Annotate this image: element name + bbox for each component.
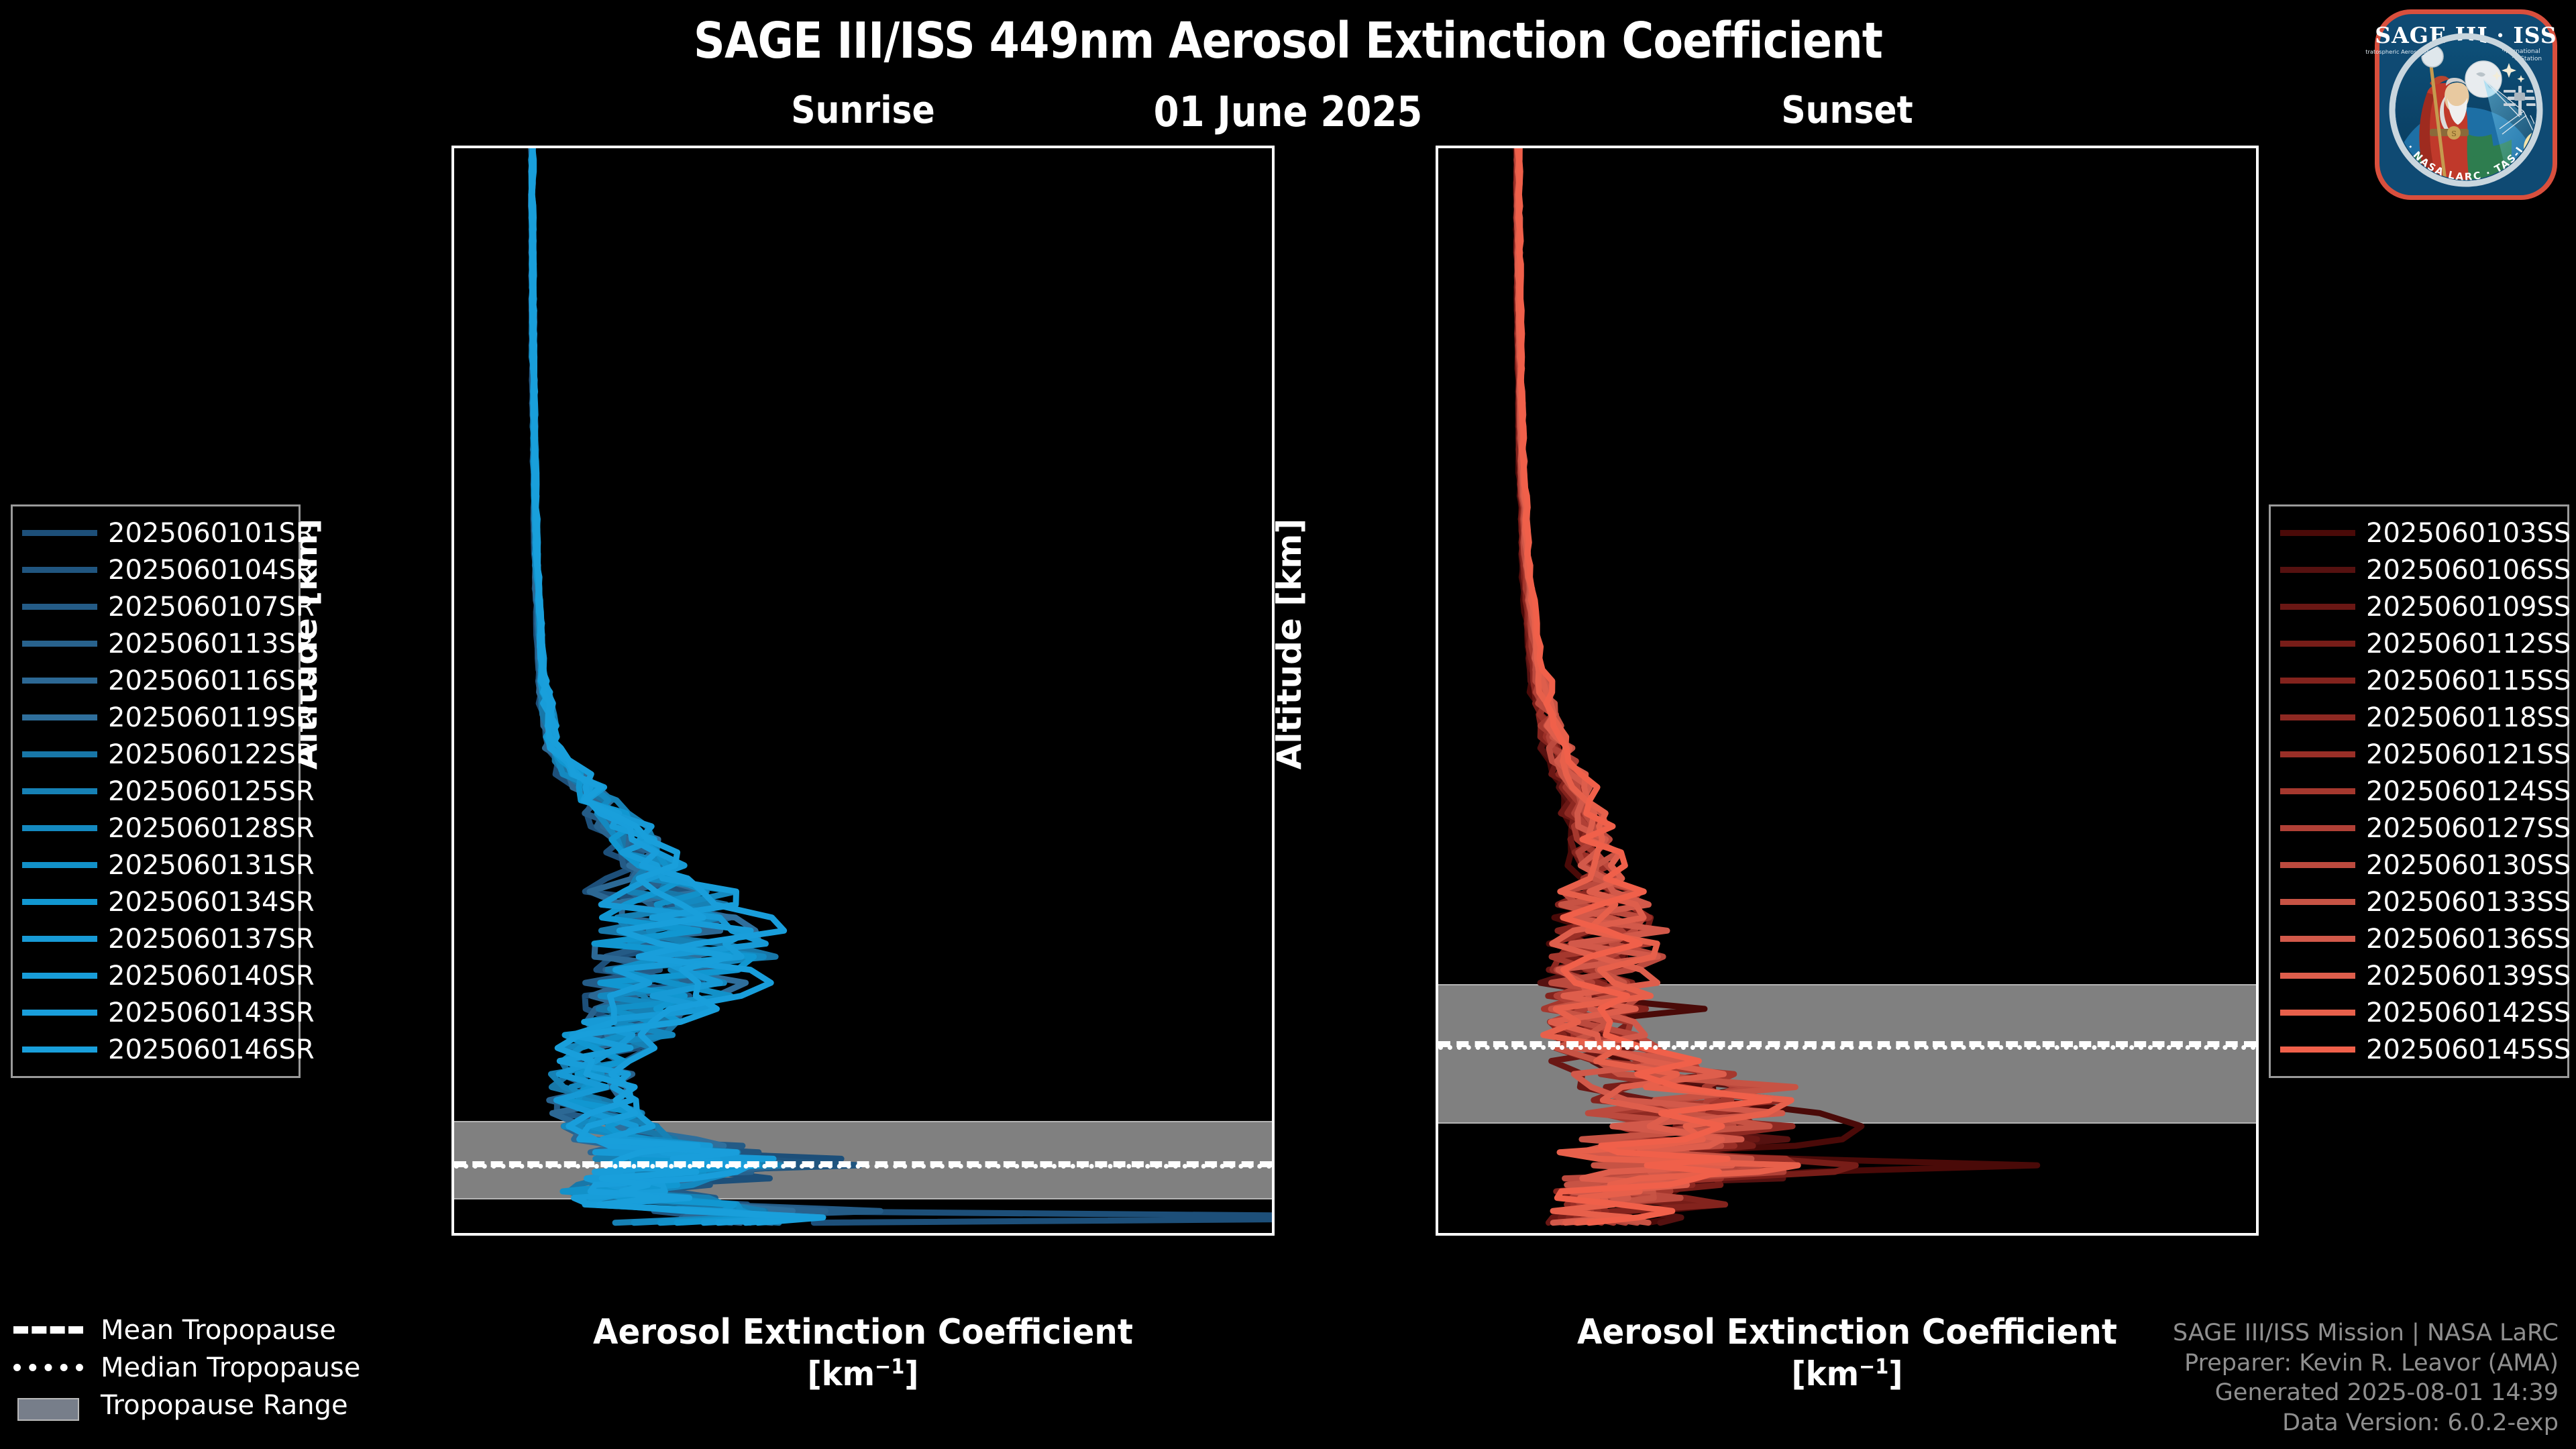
sunset-y-axis-label: Altitude [km] bbox=[1270, 519, 1309, 770]
legend-color-swatch bbox=[22, 678, 97, 684]
sunset-plot-panel: 1015202530354045500.0000.0020.0040.0060.… bbox=[1436, 146, 2259, 1236]
legend-series-label: 2025060121SS bbox=[2355, 739, 2571, 770]
legend-series-label: 2025060109SS bbox=[2355, 592, 2571, 623]
legend-color-swatch bbox=[2280, 1010, 2355, 1016]
credits-block: SAGE III/ISS Mission | NASA LaRC Prepare… bbox=[2173, 1318, 2559, 1438]
sage-iii-iss-mission-patch-icon: SAGE III · ISS Stratospheric Aerosol and… bbox=[2365, 4, 2567, 205]
legend-series-label: 2025060122SR bbox=[97, 739, 315, 770]
x-axis-tick-mark bbox=[1513, 1233, 1516, 1236]
legend-series-label: 2025060136SS bbox=[2355, 924, 2571, 955]
legend-item-2025060101sr[interactable]: 2025060101SR bbox=[22, 515, 286, 551]
legend-color-swatch bbox=[2280, 678, 2355, 684]
legend-color-swatch bbox=[22, 641, 97, 647]
legend-series-label: 2025060124SS bbox=[2355, 776, 2571, 807]
legend-item-2025060118ss[interactable]: 2025060118SS bbox=[2280, 699, 2555, 736]
legend-series-label: 2025060113SR bbox=[97, 629, 315, 659]
legend-item-2025060119sr[interactable]: 2025060119SR bbox=[22, 699, 286, 736]
y-axis-tick-mark bbox=[1436, 277, 1438, 280]
y-axis-tick-mark bbox=[451, 929, 454, 932]
y-axis-tick-mark bbox=[451, 669, 454, 672]
legend-series-label: 2025060119SR bbox=[97, 702, 315, 733]
legend-item-2025060116sr[interactable]: 2025060116SR bbox=[22, 662, 286, 699]
legend-item-tropopause-range: Tropopause Range bbox=[13, 1387, 369, 1424]
legend-label-median: Median Tropopause bbox=[83, 1352, 360, 1383]
legend-series-label: 2025060107SR bbox=[97, 592, 315, 623]
profile-lines bbox=[454, 148, 1272, 1233]
legend-series-label: 2025060143SR bbox=[97, 998, 315, 1028]
legend-series-label: 2025060116SR bbox=[97, 665, 315, 696]
legend-color-swatch bbox=[2280, 567, 2355, 573]
legend-series-label: 2025060130SS bbox=[2355, 850, 2571, 881]
legend-item-mean-tropopause: Mean Tropopause bbox=[13, 1311, 369, 1349]
profile-lines bbox=[1438, 148, 2256, 1233]
legend-color-swatch bbox=[2280, 825, 2355, 831]
y-axis-tick-mark bbox=[1436, 669, 1438, 672]
dotted-line-icon bbox=[13, 1360, 83, 1375]
legend-item-2025060127ss[interactable]: 2025060127SS bbox=[2280, 810, 2555, 847]
median-tropopause-line bbox=[454, 1164, 1272, 1169]
sunset-x-axis-label: Aerosol Extinction Coefficient [km−1] bbox=[1464, 1311, 2230, 1395]
dashed-line-icon bbox=[13, 1323, 83, 1338]
sunrise-plot-frame: 1015202530354045500.0000.0020.0040.0060.… bbox=[451, 146, 1275, 1236]
sunset-panel-title: Sunset bbox=[1477, 89, 2217, 132]
legend-item-2025060134sr[interactable]: 2025060134SR bbox=[22, 883, 286, 920]
legend-color-swatch bbox=[22, 1010, 97, 1016]
sunset-plot-area bbox=[1438, 148, 2256, 1233]
y-axis-tick-mark bbox=[1436, 538, 1438, 541]
legend-color-swatch bbox=[2280, 530, 2355, 536]
legend-item-2025060106ss[interactable]: 2025060106SS bbox=[2280, 551, 2555, 588]
credits-line-preparer: Preparer: Kevin R. Leavor (AMA) bbox=[2173, 1348, 2559, 1379]
legend-color-swatch bbox=[22, 751, 97, 757]
x-axis-tick-mark bbox=[1962, 1233, 1965, 1236]
legend-color-swatch bbox=[2280, 899, 2355, 905]
y-axis-tick-mark bbox=[1436, 1060, 1438, 1063]
x-axis-unit: [km−1] bbox=[480, 1354, 1246, 1395]
legend-color-swatch bbox=[22, 604, 97, 610]
legend-color-swatch bbox=[2280, 604, 2355, 610]
x-axis-tick-mark bbox=[529, 1233, 532, 1236]
median-tropopause-line bbox=[1438, 1045, 2256, 1050]
y-axis-tick-mark bbox=[451, 799, 454, 802]
x-axis-label-text: Aerosol Extinction Coefficient bbox=[1577, 1312, 2117, 1352]
legend-series-label: 2025060139SS bbox=[2355, 961, 2571, 991]
sunset-plot-frame: 1015202530354045500.0000.0020.0040.0060.… bbox=[1436, 146, 2259, 1236]
legend-item-2025060146sr[interactable]: 2025060146SR bbox=[22, 1031, 286, 1068]
legend-series-label: 2025060101SR bbox=[97, 518, 315, 549]
x-axis-tick-mark bbox=[1663, 1233, 1666, 1236]
legend-series-label: 2025060145SS bbox=[2355, 1034, 2571, 1065]
legend-series-label: 2025060125SR bbox=[97, 776, 315, 807]
legend-color-swatch bbox=[2280, 973, 2355, 979]
legend-series-label: 2025060133SS bbox=[2355, 887, 2571, 918]
x-axis-unit: [km−1] bbox=[1464, 1354, 2230, 1395]
legend-series-label: 2025060106SS bbox=[2355, 555, 2571, 586]
sunrise-plot-panel: 1015202530354045500.0000.0020.0040.0060.… bbox=[451, 146, 1275, 1236]
legend-color-swatch bbox=[22, 973, 97, 979]
legend-color-swatch bbox=[22, 567, 97, 573]
y-axis-tick-mark bbox=[451, 147, 454, 150]
sunrise-panel-title: Sunrise bbox=[492, 89, 1233, 132]
legend-color-swatch bbox=[22, 862, 97, 868]
y-axis-tick-mark bbox=[1436, 1190, 1438, 1193]
legend-series-label: 2025060112SS bbox=[2355, 629, 2571, 659]
legend-color-swatch bbox=[2280, 714, 2355, 720]
x-axis-tick-mark bbox=[978, 1233, 981, 1236]
legend-color-swatch bbox=[22, 899, 97, 905]
legend-item-2025060122sr[interactable]: 2025060122SR bbox=[22, 736, 286, 773]
legend-series-label: 2025060142SS bbox=[2355, 998, 2571, 1028]
svg-text:S: S bbox=[2451, 129, 2457, 138]
legend-color-swatch bbox=[2280, 788, 2355, 794]
y-axis-tick-mark bbox=[451, 538, 454, 541]
legend-label-range: Tropopause Range bbox=[83, 1390, 348, 1421]
credits-line-version: Data Version: 6.0.2-exp bbox=[2173, 1408, 2559, 1438]
x-axis-tick-mark bbox=[1128, 1233, 1130, 1236]
legend-item-median-tropopause: Median Tropopause bbox=[13, 1349, 369, 1387]
legend-item-2025060112ss[interactable]: 2025060112SS bbox=[2280, 625, 2555, 662]
sunrise-plot-area bbox=[454, 148, 1272, 1233]
legend-series-label: 2025060137SR bbox=[97, 924, 315, 955]
legend-item-2025060130ss[interactable]: 2025060130SS bbox=[2280, 847, 2555, 883]
legend-color-swatch bbox=[22, 936, 97, 942]
legend-item-2025060104sr[interactable]: 2025060104SR bbox=[22, 551, 286, 588]
legend-color-swatch bbox=[2280, 936, 2355, 942]
legend-item-2025060145ss[interactable]: 2025060145SS bbox=[2280, 1031, 2555, 1068]
credits-line-mission: SAGE III/ISS Mission | NASA LaRC bbox=[2173, 1318, 2559, 1348]
legend-color-swatch bbox=[2280, 862, 2355, 868]
legend-color-swatch bbox=[2280, 1046, 2355, 1053]
y-axis-tick-mark bbox=[1436, 929, 1438, 932]
legend-color-swatch bbox=[22, 1046, 97, 1053]
tropopause-legend: Mean Tropopause Median Tropopause Tropop… bbox=[13, 1311, 369, 1424]
legend-item-2025060139ss[interactable]: 2025060139SS bbox=[2280, 957, 2555, 994]
legend-item-2025060113sr[interactable]: 2025060113SR bbox=[22, 625, 286, 662]
y-axis-tick-mark bbox=[1436, 799, 1438, 802]
legend-color-swatch bbox=[22, 788, 97, 794]
page-title: SAGE III/ISS 449nm Aerosol Extinction Co… bbox=[154, 12, 2421, 70]
legend-label-mean: Mean Tropopause bbox=[83, 1315, 336, 1346]
sunrise-x-axis-label: Aerosol Extinction Coefficient [km−1] bbox=[480, 1311, 1246, 1395]
x-axis-label-text: Aerosol Extinction Coefficient bbox=[593, 1312, 1133, 1352]
legend-item-2025060103ss[interactable]: 2025060103SS bbox=[2280, 515, 2555, 551]
legend-series-label: 2025060104SR bbox=[97, 555, 315, 586]
legend-item-2025060124ss[interactable]: 2025060124SS bbox=[2280, 773, 2555, 810]
legend-item-2025060136ss[interactable]: 2025060136SS bbox=[2280, 920, 2555, 957]
x-axis-tick-mark bbox=[2112, 1233, 2114, 1236]
legend-series-label: 2025060140SR bbox=[97, 961, 315, 991]
y-axis-tick-mark bbox=[1436, 147, 1438, 150]
legend-series-label: 2025060131SR bbox=[97, 850, 315, 881]
sunset-series-legend[interactable]: 2025060103SS2025060106SS2025060109SS2025… bbox=[2269, 504, 2569, 1078]
legend-item-2025060125sr[interactable]: 2025060125SR bbox=[22, 773, 286, 810]
legend-item-2025060140sr[interactable]: 2025060140SR bbox=[22, 957, 286, 994]
profile-line bbox=[531, 148, 1272, 1223]
profile-line bbox=[531, 148, 881, 1223]
legend-series-label: 2025060134SR bbox=[97, 887, 315, 918]
legend-item-2025060115ss[interactable]: 2025060115SS bbox=[2280, 662, 2555, 699]
legend-color-swatch bbox=[2280, 641, 2355, 647]
legend-color-swatch bbox=[22, 825, 97, 831]
legend-color-swatch bbox=[22, 714, 97, 720]
x-axis-tick-mark bbox=[679, 1233, 682, 1236]
y-axis-tick-mark bbox=[451, 277, 454, 280]
gray-patch-icon bbox=[13, 1398, 83, 1413]
y-axis-tick-mark bbox=[1436, 408, 1438, 411]
legend-series-label: 2025060118SS bbox=[2355, 702, 2571, 733]
legend-series-label: 2025060146SR bbox=[97, 1034, 315, 1065]
x-axis-tick-mark bbox=[1813, 1233, 1815, 1236]
sunrise-series-legend[interactable]: 2025060101SR2025060104SR2025060107SR2025… bbox=[11, 504, 301, 1078]
legend-series-label: 2025060128SR bbox=[97, 813, 315, 844]
legend-item-2025060128sr[interactable]: 2025060128SR bbox=[22, 810, 286, 847]
x-axis-tick-mark bbox=[828, 1233, 831, 1236]
y-axis-tick-mark bbox=[451, 1060, 454, 1063]
legend-series-label: 2025060127SS bbox=[2355, 813, 2571, 844]
credits-line-generated: Generated 2025-08-01 14:39 bbox=[2173, 1378, 2559, 1408]
legend-item-2025060107sr[interactable]: 2025060107SR bbox=[22, 588, 286, 625]
y-axis-tick-mark bbox=[451, 1190, 454, 1193]
legend-item-2025060109ss[interactable]: 2025060109SS bbox=[2280, 588, 2555, 625]
legend-item-2025060121ss[interactable]: 2025060121SS bbox=[2280, 736, 2555, 773]
profile-line bbox=[532, 148, 798, 1223]
legend-item-2025060142ss[interactable]: 2025060142SS bbox=[2280, 994, 2555, 1031]
legend-item-2025060131sr[interactable]: 2025060131SR bbox=[22, 847, 286, 883]
legend-color-swatch bbox=[2280, 751, 2355, 757]
legend-series-label: 2025060103SS bbox=[2355, 518, 2571, 549]
legend-color-swatch bbox=[22, 530, 97, 536]
legend-item-2025060143sr[interactable]: 2025060143SR bbox=[22, 994, 286, 1031]
legend-item-2025060133ss[interactable]: 2025060133SS bbox=[2280, 883, 2555, 920]
y-axis-tick-mark bbox=[451, 408, 454, 411]
legend-item-2025060137sr[interactable]: 2025060137SR bbox=[22, 920, 286, 957]
legend-series-label: 2025060115SS bbox=[2355, 665, 2571, 696]
